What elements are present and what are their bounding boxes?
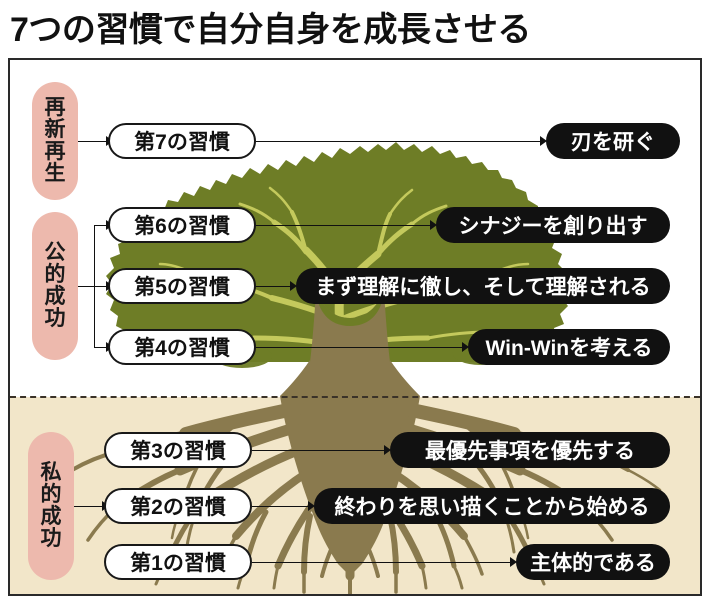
stage-char: 再 <box>45 97 66 119</box>
stage-char: 再 <box>45 141 66 163</box>
stage-label-private-success: 私 的 成 功 <box>28 432 74 580</box>
stage-char: 成 <box>41 506 62 528</box>
stage-char: 功 <box>45 308 66 330</box>
principle-pill-4[interactable]: Win-Winを考える <box>468 329 670 365</box>
stage-label-public-success: 公 的 成 功 <box>32 212 78 360</box>
stage-char: 功 <box>41 528 62 550</box>
principle-pill-1[interactable]: 主体的である <box>516 544 670 580</box>
connector-habit7-to-principle <box>256 141 542 142</box>
principle-pill-7[interactable]: 刃を研ぐ <box>546 123 680 159</box>
ground-divider <box>10 396 700 398</box>
stage-char: 生 <box>45 163 66 185</box>
stage-char: 的 <box>45 264 66 286</box>
connector-habit4-to-principle <box>256 347 464 348</box>
habit-pill-4[interactable]: 第4の習慣 <box>108 329 256 365</box>
principle-pill-3[interactable]: 最優先事項を優先する <box>390 432 670 468</box>
habit-pill-3[interactable]: 第3の習慣 <box>104 432 252 468</box>
connector-renewal-to-habit7 <box>78 141 108 142</box>
habit-pill-1[interactable]: 第1の習慣 <box>104 544 252 580</box>
page-title: 7つの習慣で自分自身を成長させる <box>10 6 700 54</box>
habit-pill-2[interactable]: 第2の習慣 <box>104 488 252 524</box>
connector-habit2-to-principle <box>252 506 310 507</box>
habit-pill-5[interactable]: 第5の習慣 <box>108 268 256 304</box>
connector-habit6-to-principle <box>256 225 432 226</box>
connector-habit5-to-principle <box>256 286 292 287</box>
connector-private-to-habit2 <box>74 506 104 507</box>
stage-label-renewal: 再 新 再 生 <box>32 82 78 200</box>
connector-habit3-to-principle <box>252 450 386 451</box>
stage-char: 新 <box>45 119 66 141</box>
connector-public-stem <box>78 286 94 287</box>
habit-pill-6[interactable]: 第6の習慣 <box>108 207 256 243</box>
connector-habit1-to-principle <box>252 562 512 563</box>
habit-pill-7[interactable]: 第7の習慣 <box>108 123 256 159</box>
principle-pill-5[interactable]: まず理解に徹し、そして理解される <box>296 268 670 304</box>
principle-pill-2[interactable]: 終わりを思い描くことから始める <box>314 488 670 524</box>
stage-char: 的 <box>41 484 62 506</box>
stage-char: 成 <box>45 286 66 308</box>
stage-char: 私 <box>41 462 62 484</box>
diagram-panel: 再 新 再 生 公 的 成 功 私 的 成 功 第7の習慣 刃を研ぐ 第6の習慣… <box>8 58 702 596</box>
principle-pill-6[interactable]: シナジーを創り出す <box>436 207 670 243</box>
stage-char: 公 <box>45 242 66 264</box>
